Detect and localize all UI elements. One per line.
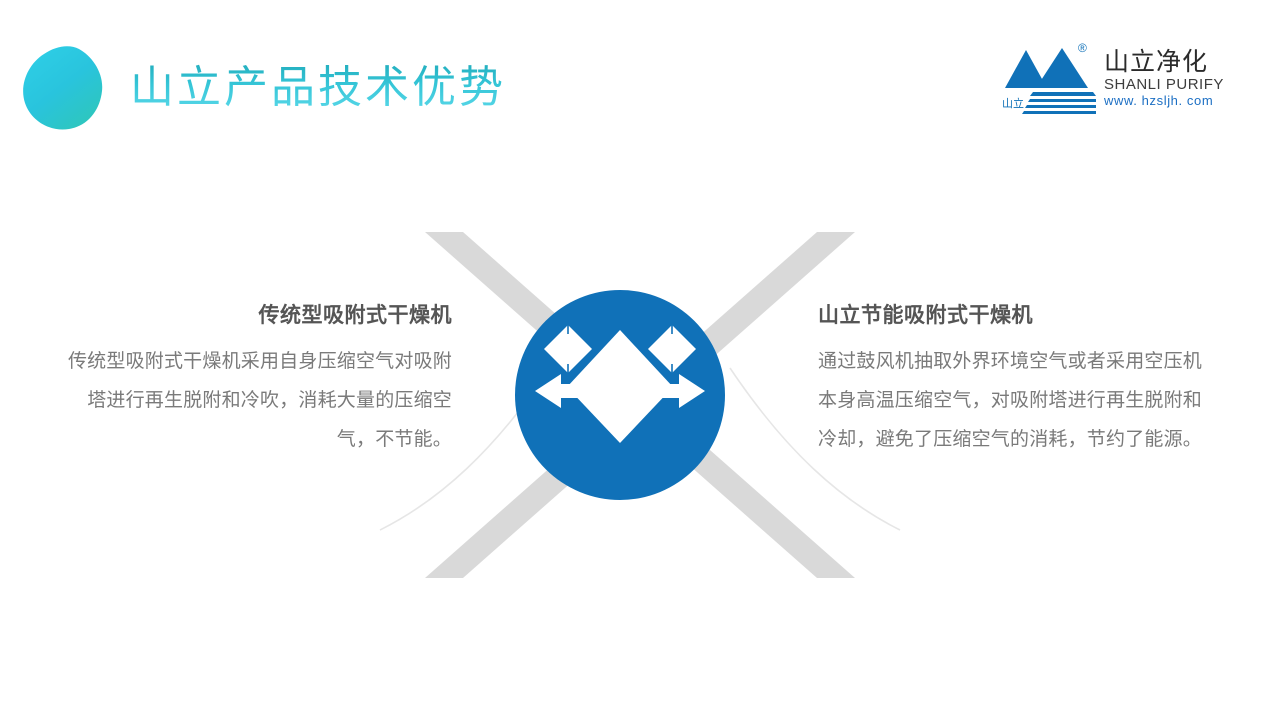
right-block-body: 通过鼓风机抽取外界环境空气或者采用空压机本身高温压缩空气，对吸附塔进行再生脱附和…: [818, 342, 1218, 459]
left-block-heading: 传统型吸附式干燥机: [52, 300, 452, 332]
registered-trademark-icon: ®: [1078, 42, 1087, 54]
left-text-block: 传统型吸附式干燥机 传统型吸附式干燥机采用自身压缩空气对吸附塔进行再生脱附和冷吹…: [52, 300, 452, 459]
slide-header: 山立产品技术优势 山立 ® 山立净化 SHAN: [0, 0, 1280, 150]
left-block-body: 传统型吸附式干燥机采用自身压缩空气对吸附塔进行再生脱附和冷吹，消耗大量的压缩空气…: [52, 342, 452, 459]
logo-company-name-cn: 山立净化: [1104, 48, 1224, 76]
slide-canvas: 山立产品技术优势 山立 ® 山立净化 SHAN: [0, 0, 1280, 720]
logo-text-group: 山立净化 SHANLI PURIFY www. hzsljh. com: [1104, 48, 1224, 109]
logo-website-url: www. hzsljh. com: [1104, 93, 1224, 109]
right-text-block: 山立节能吸附式干燥机 通过鼓风机抽取外界环境空气或者采用空压机本身高温压缩空气，…: [818, 300, 1218, 459]
title-blob-icon: [22, 46, 104, 130]
diamond-arrows-icon: [515, 290, 725, 500]
logo-company-name-en: SHANLI PURIFY: [1104, 76, 1224, 93]
company-logo: 山立 ® 山立净化 SHANLI PURIFY www. hzsljh. com: [1000, 40, 1222, 118]
right-block-heading: 山立节能吸附式干燥机: [818, 300, 1218, 332]
mountain-logo-label: 山立: [1002, 98, 1024, 110]
page-title: 山立产品技术优势: [130, 58, 506, 118]
